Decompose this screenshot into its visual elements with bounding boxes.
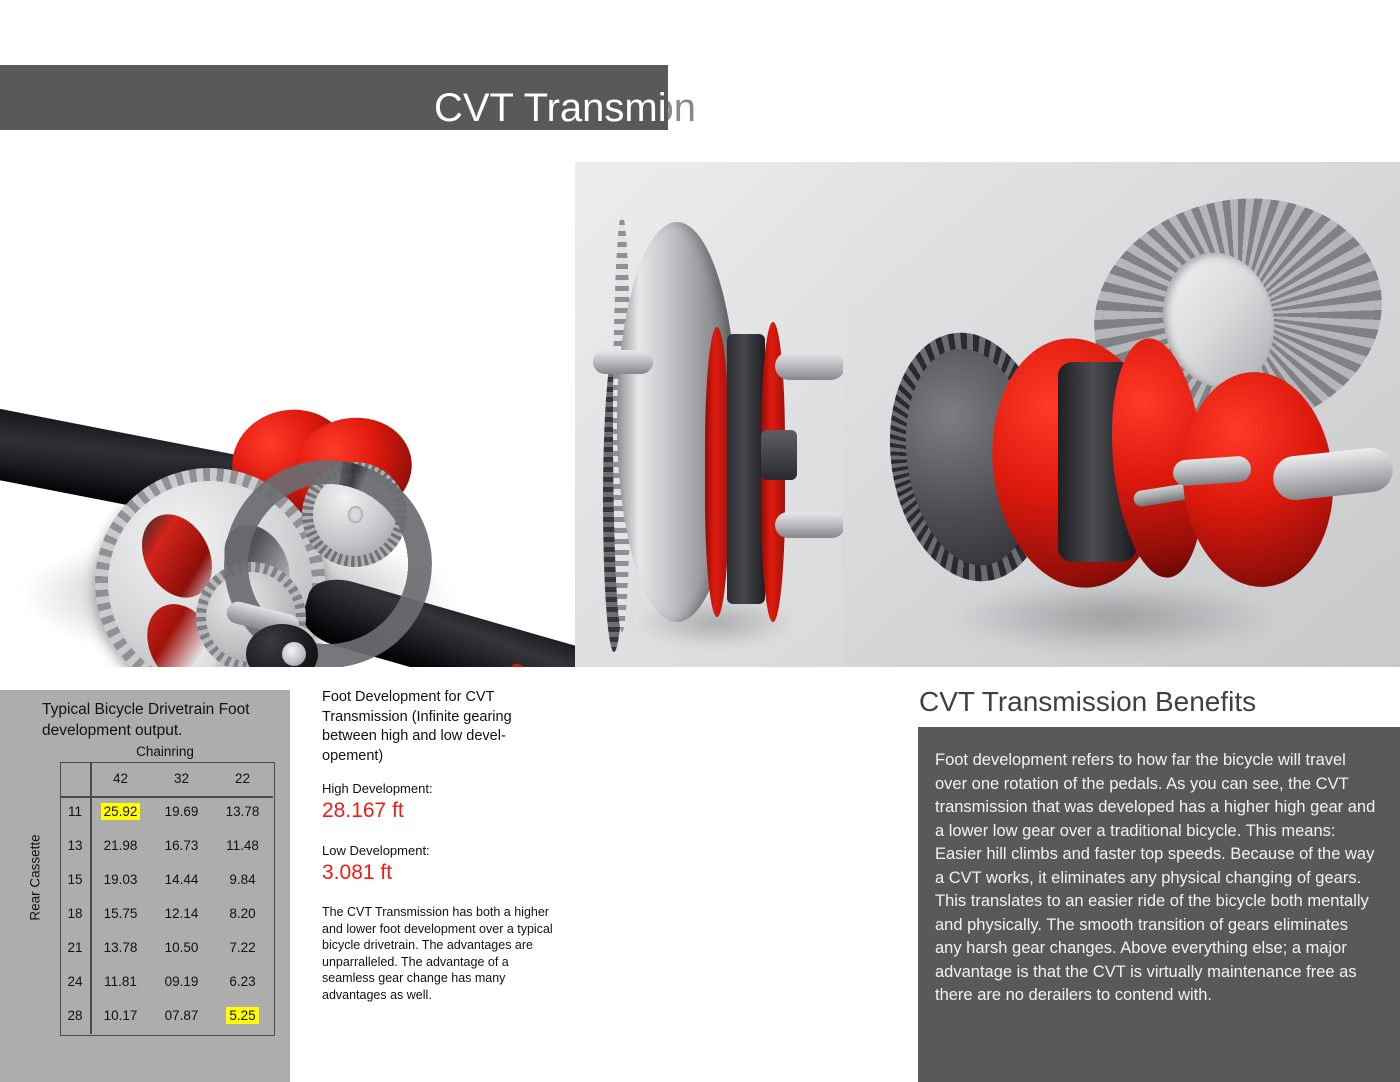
mid-bracket (761, 430, 797, 480)
right-pivot-pin (1172, 455, 1252, 486)
benefits-title: CVT Transmission Benefits (919, 684, 1256, 720)
foot-development-heading: Foot Development for CVT Transmission (I… (322, 688, 557, 766)
cell-highlight: 5.25 (226, 1007, 258, 1024)
table-caption: Typical Bicycle Drivetrain Foot developm… (42, 699, 282, 741)
low-development-label: Low Development: (322, 842, 557, 859)
cell-value: 11.81 (90, 964, 151, 998)
foot-development-text-column: Foot Development for CVT Transmission (I… (322, 688, 557, 1003)
cell-value: 21.98 (90, 828, 151, 862)
col-header-42: 42 (90, 762, 151, 794)
cell-value: 8.20 (212, 896, 273, 930)
table-row: 21 13.78 10.50 7.22 (60, 930, 273, 964)
foot-development-table: 42 32 22 11 25.92 19.69 13.78 13 21.98 1… (60, 762, 273, 1032)
mid-red-disc-1 (705, 327, 729, 617)
col-header-32: 32 (151, 762, 212, 794)
mid-shaft-upper (775, 352, 843, 380)
cell-value: 25.92 (90, 794, 151, 828)
foot-development-paragraph: The CVT Transmission has both a higher a… (322, 904, 557, 1003)
row-label: 24 (60, 964, 90, 998)
table-row: 13 21.98 16.73 11.48 (60, 828, 273, 862)
table-header-row: 42 32 22 (60, 762, 273, 794)
cell-value: 10.50 (151, 930, 212, 964)
page-title: CVT Transmission (0, 84, 760, 132)
cell-value: 14.44 (151, 862, 212, 896)
table-row: 28 10.17 07.87 5.25 (60, 998, 273, 1032)
table-row: 24 11.81 09.19 6.23 (60, 964, 273, 998)
cell-value: 9.84 (212, 862, 273, 896)
poster-page: CVT Transmission CVT Transmission (0, 0, 1400, 1082)
row-label: 28 (60, 998, 90, 1032)
benefits-body-text: Foot development refers to how far the b… (935, 749, 1379, 1008)
table-header-divider (60, 796, 273, 798)
cell-value: 13.78 (90, 930, 151, 964)
mid-shaft-left (593, 350, 653, 374)
table-row: 11 25.92 19.69 13.78 (60, 794, 273, 828)
table-corner-cell (60, 762, 90, 794)
cell-value: 16.73 (151, 828, 212, 862)
cell-value: 19.69 (151, 794, 212, 828)
benefits-box: Foot development refers to how far the b… (918, 727, 1400, 1082)
mid-roller-drum (727, 334, 765, 604)
row-label: 11 (60, 794, 90, 828)
cell-value: 12.14 (151, 896, 212, 930)
table-row: 15 19.03 14.44 9.84 (60, 862, 273, 896)
row-label: 21 (60, 930, 90, 964)
high-development-label: High Development: (322, 780, 557, 797)
cell-value: 7.22 (212, 930, 273, 964)
col-header-22: 22 (212, 762, 273, 794)
cell-value: 09.19 (151, 964, 212, 998)
cell-value: 6.23 (212, 964, 273, 998)
table-vertical-divider (90, 762, 92, 1034)
cell-value: 15.75 (90, 896, 151, 930)
cell-highlight: 25.92 (101, 803, 141, 820)
cell-value: 07.87 (151, 998, 212, 1032)
rear-cassette-axis-label: Rear Cassette (28, 813, 43, 943)
cvt-crank-assembly-render (0, 162, 575, 667)
row-label: 18 (60, 896, 90, 930)
chainring-axis-label: Chainring (60, 744, 270, 759)
cell-value: 10.17 (90, 998, 151, 1032)
cell-value: 19.03 (90, 862, 151, 896)
cell-value: 11.48 (212, 828, 273, 862)
page-title-overflow: CVT Transmission (668, 84, 788, 132)
page-title-overflow-text: CVT Transmission (668, 84, 696, 132)
mid-shaft-lower (775, 512, 843, 538)
high-development-value: 28.167 ft (322, 798, 557, 824)
table-row: 18 15.75 12.14 8.20 (60, 896, 273, 930)
hero-image-row (0, 140, 1400, 667)
cell-value: 5.25 (212, 998, 273, 1032)
cvt-three-quarter-render (843, 162, 1400, 667)
cell-value: 13.78 (212, 794, 273, 828)
low-development-value: 3.081 ft (322, 860, 557, 886)
row-label: 13 (60, 828, 90, 862)
row-label: 15 (60, 862, 90, 896)
cvt-side-profile-render (575, 162, 843, 667)
